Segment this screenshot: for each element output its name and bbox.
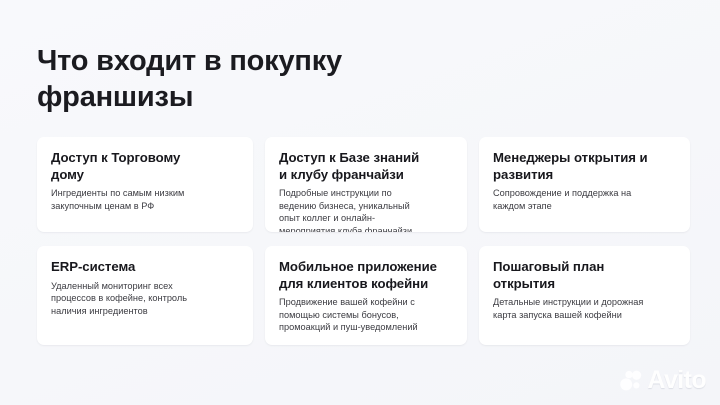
benefit-card-title: Менеджеры открытия и развития <box>493 150 676 183</box>
page-title: Что входит в покупку франшизы <box>37 43 467 115</box>
benefit-card-body: Подробные инструкции по ведению бизнеса,… <box>279 187 453 232</box>
slide-canvas: Что входит в покупку франшизы Доступ к Т… <box>0 0 720 405</box>
benefit-card-body: Ингредиенты по самым низким закупочным ц… <box>51 187 239 212</box>
benefit-card-title: Доступ к Торговому дому <box>51 150 239 183</box>
benefit-card-title: Пошаговый план открытия <box>493 259 676 292</box>
benefit-card-body: Продвижение вашей кофейни с помощью сист… <box>279 296 453 334</box>
benefit-card: Менеджеры открытия и развития Сопровожде… <box>479 137 690 232</box>
benefit-card: Мобильное приложение для клиентов кофейн… <box>265 246 467 345</box>
benefit-card-title: Доступ к Базе знаний и клубу франчайзи <box>279 150 453 183</box>
avito-watermark: Avito <box>620 368 706 393</box>
benefit-card: ERP-система Удаленный мониторинг всех пр… <box>37 246 253 345</box>
benefit-card-title: ERP-система <box>51 259 239 276</box>
benefit-card: Доступ к Базе знаний и клубу франчайзи П… <box>265 137 467 232</box>
avito-wordmark: Avito <box>647 368 706 393</box>
benefits-card-grid: Доступ к Торговому дому Ингредиенты по с… <box>37 137 690 345</box>
benefit-card-body: Детальные инструкции и дорожная карта за… <box>493 296 676 321</box>
benefit-card-body: Сопровождение и поддержка на каждом этап… <box>493 187 676 212</box>
benefit-card-title: Мобильное приложение для клиентов кофейн… <box>279 259 453 292</box>
benefit-card: Пошаговый план открытия Детальные инстру… <box>479 246 690 345</box>
benefit-card-body: Удаленный мониторинг всех процессов в ко… <box>51 280 239 318</box>
avito-dots-icon <box>620 370 642 392</box>
benefit-card: Доступ к Торговому дому Ингредиенты по с… <box>37 137 253 232</box>
